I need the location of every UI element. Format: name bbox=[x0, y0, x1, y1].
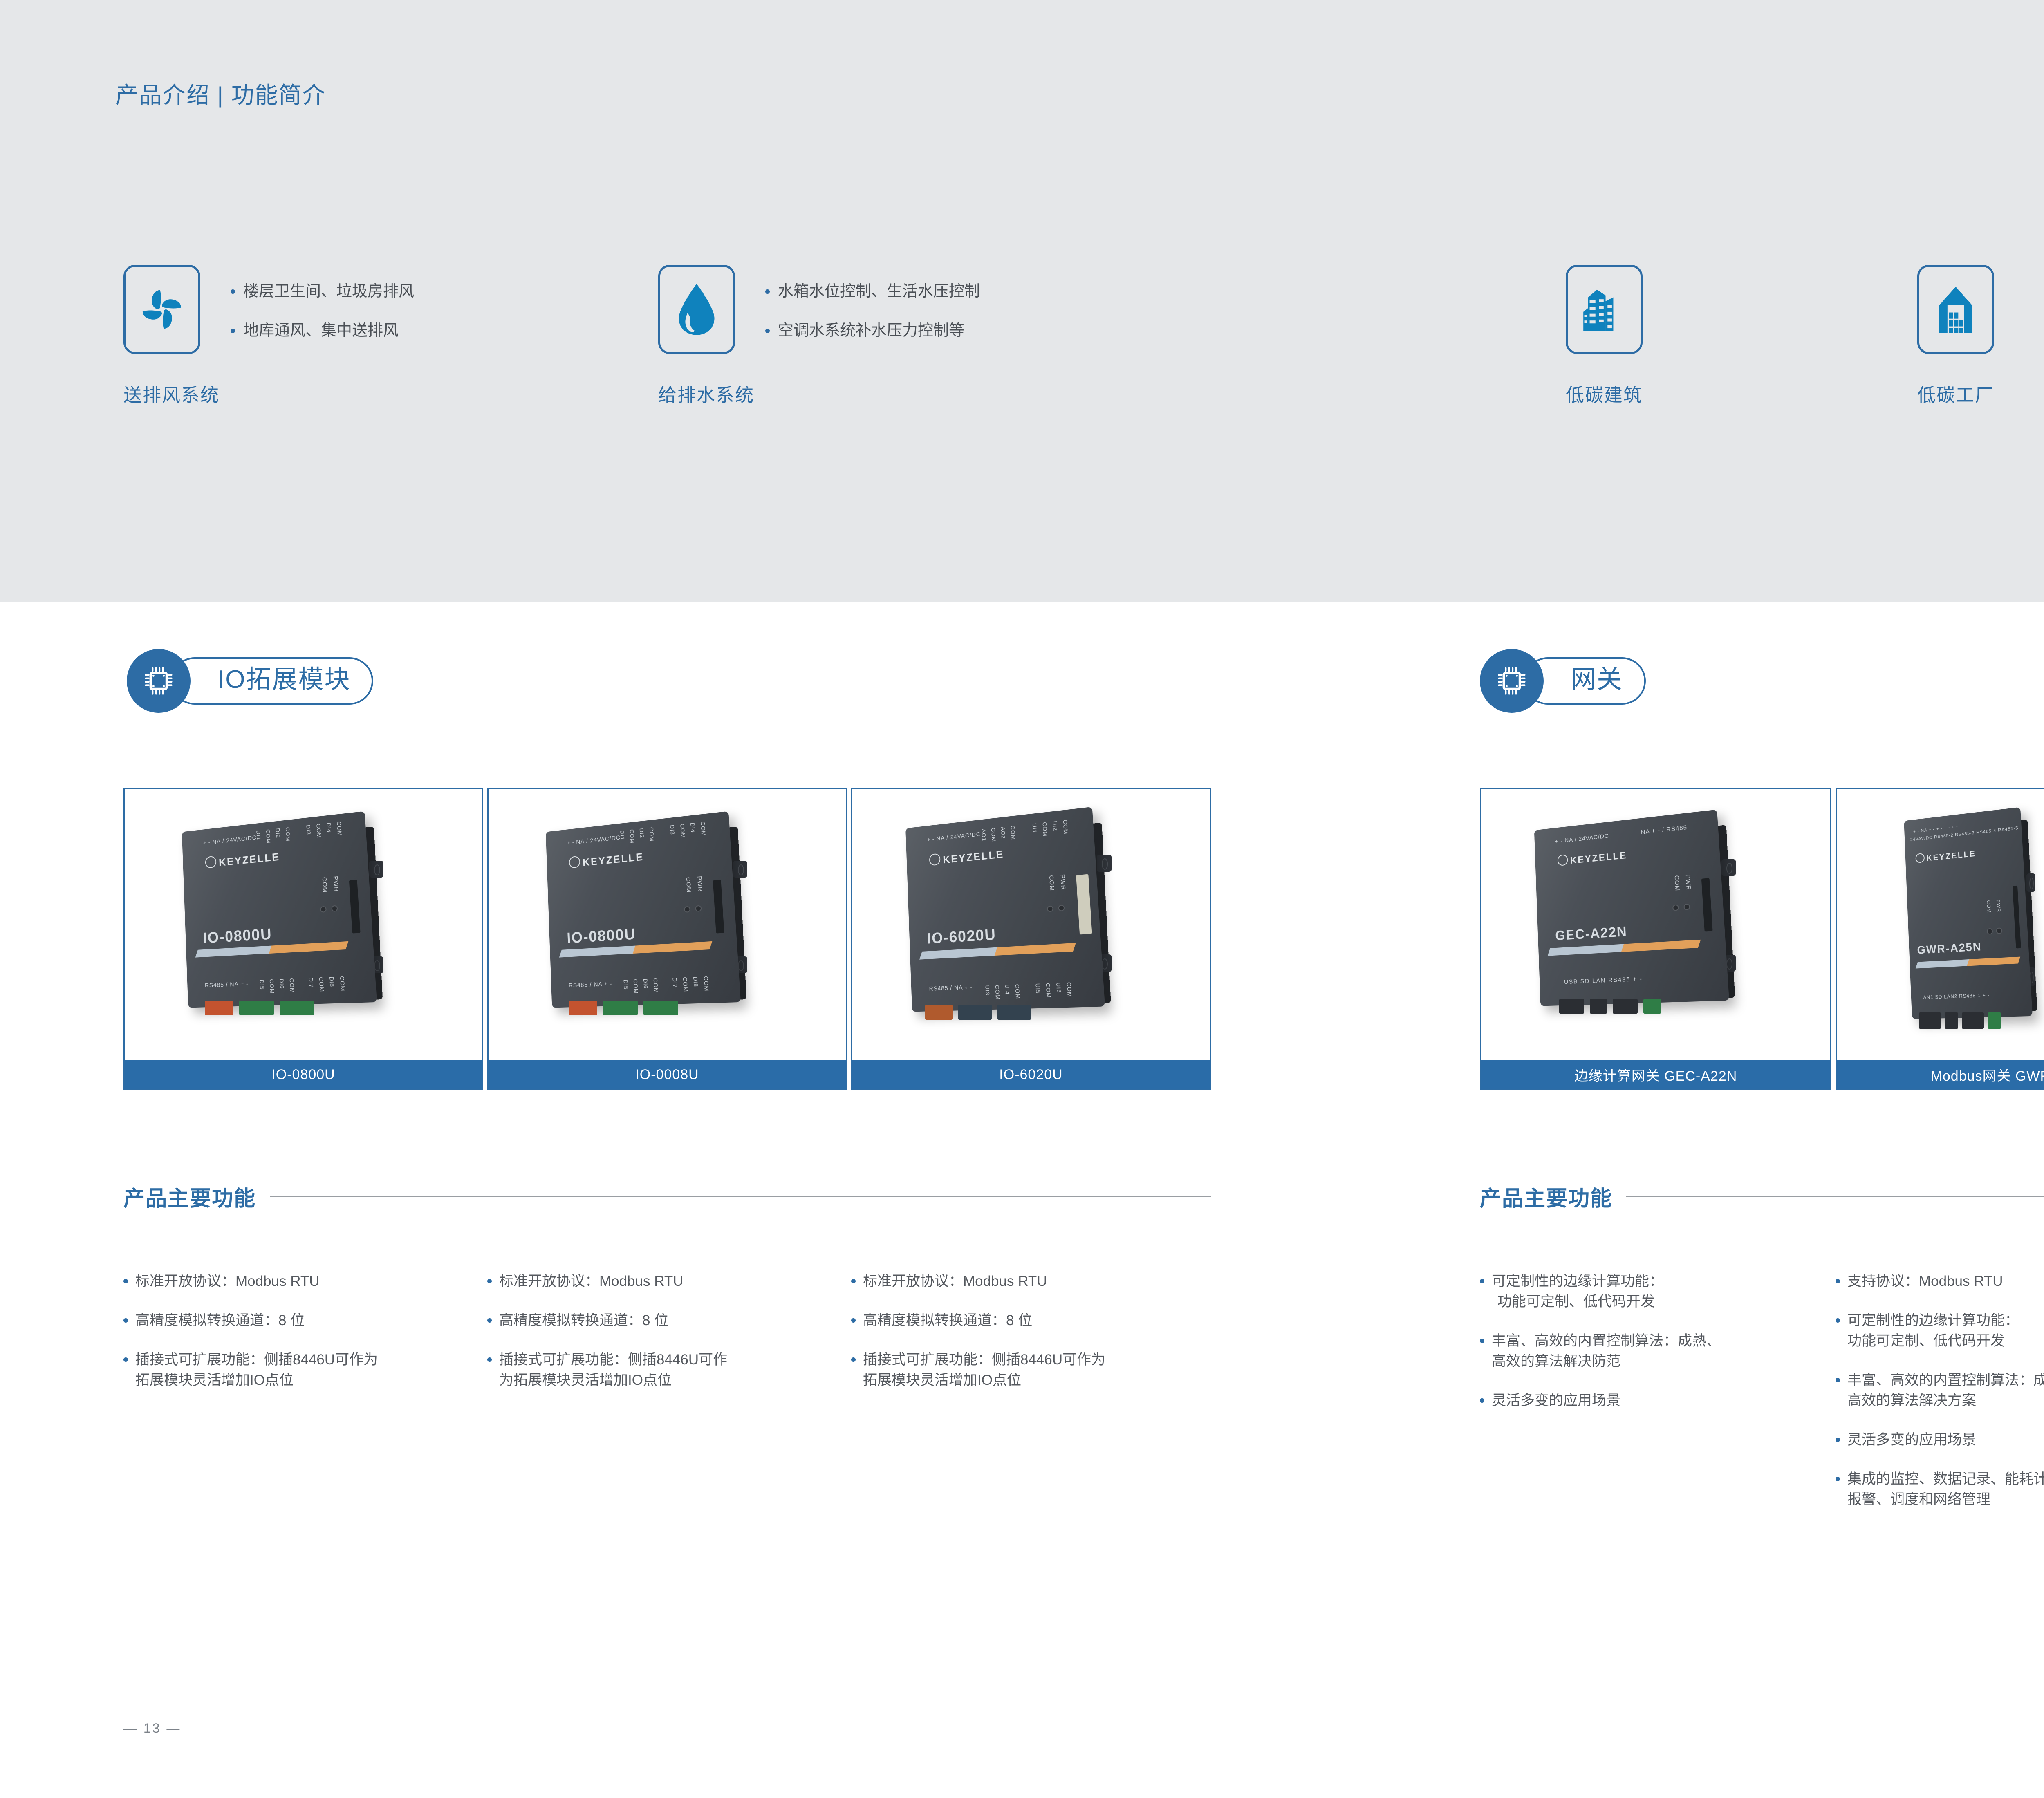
list-item: 楼层卫生间、垃圾房排风 bbox=[231, 282, 414, 301]
lan1-port bbox=[1919, 1012, 1941, 1029]
list-item: 高精度模拟转换通道：8 位 bbox=[487, 1310, 831, 1331]
features-heading-left: 产品主要功能 bbox=[123, 1181, 1211, 1212]
application-caption: 给排水系统 bbox=[658, 380, 754, 407]
feature-text: 标准开放协议：Modbus RTU bbox=[499, 1271, 684, 1292]
bullet-dot-icon bbox=[123, 1357, 128, 1362]
device-leds bbox=[1048, 906, 1064, 911]
ventilation-bullet-list: 楼层卫生间、垃圾房排风 地库通风、集中送排风 bbox=[231, 282, 414, 360]
application-caption: 低碳工厂 bbox=[1917, 380, 1994, 407]
bullet-text: 空调水系统补水压力控制等 bbox=[778, 321, 964, 340]
feature-text: 可定制性的边缘计算功能： 功能可定制、低代码开发 bbox=[1847, 1310, 2019, 1351]
bullet-dot-icon bbox=[1836, 1279, 1840, 1283]
terminal-block-dark bbox=[997, 1005, 1031, 1020]
device-brand: KEYZELLE bbox=[1557, 847, 1627, 867]
fan-icon-frame bbox=[123, 265, 200, 354]
chip-icon bbox=[141, 664, 176, 698]
section-badge-label: IO拓展模块 bbox=[217, 667, 350, 692]
mounting-tab bbox=[369, 861, 383, 878]
feature-text: 支持协议：Modbus RTU bbox=[1847, 1271, 2003, 1292]
product-card[interactable]: + - NA / 24VAC/DC DI1COMDI2COM DI3COMDI4… bbox=[487, 788, 847, 1090]
device-bottom-ports: UI3COMUI4COM bbox=[984, 984, 1021, 1000]
product-image: + - NA / 24VAC/DC DI1COMDI2COM DI3COMDI4… bbox=[489, 789, 846, 1060]
product-card[interactable]: + - NA / 24VAC/DC AO1COMAO2COM UI1COMUI2… bbox=[851, 788, 1211, 1090]
bullet-dot-icon bbox=[851, 1318, 856, 1323]
bullet-dot-icon bbox=[1836, 1477, 1840, 1481]
product-image: + - NA / 24VAC/DC DI1COMDI2COM DI3COMDI4… bbox=[125, 789, 482, 1060]
section-badge-label: 网关 bbox=[1571, 667, 1623, 692]
device-body: + - NA / 24VAC/DC DI1COMDI2COM DI3COMDI4… bbox=[546, 811, 741, 1008]
application-block-low-carbon-factory: 低碳工厂 bbox=[1917, 265, 1994, 412]
feature-text: 插接式可扩展功能：侧插8446U可作为 拓展模块灵活增加IO点位 bbox=[863, 1350, 1105, 1390]
terminal-block-green bbox=[643, 1001, 678, 1015]
device-orange-stripe bbox=[633, 941, 713, 954]
list-item: 高精度模拟转换通道：8 位 bbox=[123, 1310, 467, 1331]
device-orange-stripe bbox=[269, 941, 349, 954]
device-rs485-label: RS485 / NA + - bbox=[205, 981, 249, 989]
feature-text: 插接式可扩展功能：侧插8446U可作 为拓展模块灵活增加IO点位 bbox=[499, 1350, 727, 1390]
device-illustration: + - NA / 24VAC/DC NA + - / RS485 KEYZELL… bbox=[1530, 819, 1722, 1003]
mounting-tab bbox=[733, 861, 747, 878]
fan-icon bbox=[137, 284, 187, 335]
feature-column: 标准开放协议：Modbus RTU 高精度模拟转换通道：8 位 插接式可扩展功能… bbox=[123, 1271, 467, 1409]
application-block-low-carbon-building: 低碳建筑 bbox=[1566, 265, 1643, 412]
lan2-port bbox=[1962, 1012, 1984, 1029]
terminal-block-green bbox=[603, 1001, 638, 1015]
bullet-dot-icon bbox=[765, 289, 770, 294]
bullet-dot-icon bbox=[1480, 1339, 1484, 1343]
features-title: 产品主要功能 bbox=[123, 1181, 256, 1212]
feature-text: 插接式可扩展功能：侧插8446U可作为 拓展模块灵活增加IO点位 bbox=[135, 1350, 378, 1390]
device-bottom-ports-2: UI5COMUI6COM bbox=[1034, 982, 1073, 998]
chip-icon-circle bbox=[127, 649, 191, 713]
mounting-tab bbox=[1721, 859, 1736, 876]
device-brand: KEYZELLE bbox=[1915, 846, 1976, 864]
device-port-labels: LAN1 SD LAN2 RS485-1 + - bbox=[1920, 992, 1990, 1001]
bullet-dot-icon bbox=[231, 289, 235, 294]
device-body: + - NA / 24VAC/DC DI1COMDI2COM DI3COMDI4… bbox=[182, 811, 377, 1008]
device-leds bbox=[321, 906, 337, 911]
product-card[interactable]: + - NA + - + - + - + - 24VAV/DC RS485-2 … bbox=[1836, 788, 2044, 1090]
device-rs485-top-label: NA + - / RS485 bbox=[1641, 824, 1687, 836]
device-orange-stripe bbox=[1621, 940, 1701, 952]
terminal-block-green bbox=[1988, 1012, 2001, 1029]
device-silver-stripe bbox=[919, 947, 1006, 959]
device-illustration: + - NA / 24VAC/DC DI1COMDI2COM DI3COMDI4… bbox=[542, 820, 734, 1004]
mounting-tab bbox=[1097, 855, 1112, 872]
list-item: 标准开放协议：Modbus RTU bbox=[851, 1271, 1195, 1292]
application-caption: 送排风系统 bbox=[123, 380, 220, 407]
device-model-text: IO-6020U bbox=[927, 926, 997, 948]
device-top-ports-2: UI1COMUI2COM bbox=[1031, 819, 1069, 837]
page-number-left: — 13 — bbox=[123, 1721, 181, 1736]
device-leds bbox=[685, 906, 701, 911]
product-label: Modbus网关 GWR-A25N bbox=[1837, 1060, 2044, 1089]
device-brand: KEYZELLE bbox=[569, 848, 644, 870]
feature-text: 集成的监控、数据记录、能耗计量、 报警、调度和网络管理 bbox=[1847, 1469, 2044, 1510]
bullet-dot-icon bbox=[1480, 1279, 1484, 1283]
list-item: 地库通风、集中送排风 bbox=[231, 321, 414, 340]
terminal-block-green bbox=[1643, 999, 1661, 1014]
feature-text: 丰富、高效的内置控制算法：成熟、 高效的算法解决方案 bbox=[1847, 1370, 2044, 1411]
mounting-tab bbox=[2026, 873, 2036, 892]
device-model-text: IO-0800U bbox=[203, 925, 273, 947]
device-top-ports-2: DI3COMDI4COM bbox=[669, 821, 707, 840]
device-led-labels: COMPWR bbox=[684, 875, 704, 893]
feature-text: 丰富、高效的内置控制算法：成熟、 高效的算法解决防范 bbox=[1492, 1331, 1721, 1372]
device-orange-stripe bbox=[1967, 957, 2020, 966]
device-top-ports: DI1COMDI2COM bbox=[619, 827, 655, 845]
feature-column: 标准开放协议：Modbus RTU 高精度模拟转换通道：8 位 插接式可扩展功能… bbox=[851, 1271, 1195, 1409]
features-title: 产品主要功能 bbox=[1480, 1181, 1612, 1212]
list-item: 灵活多变的应用场景 bbox=[1836, 1430, 2044, 1450]
device-expansion-connector bbox=[1076, 874, 1092, 934]
device-power-label: + - NA / 24VAC/DC bbox=[1555, 833, 1609, 845]
bullet-dot-icon bbox=[1836, 1318, 1840, 1323]
device-orange-stripe bbox=[994, 943, 1076, 955]
device-power-label: + - NA / 24VAC/DC bbox=[203, 834, 257, 846]
device-body: + - NA / 24VAC/DC AO1COMAO2COM UI1COMUI2… bbox=[905, 807, 1105, 1012]
bullet-dot-icon bbox=[487, 1318, 492, 1323]
device-top-ports: AO1COMAO2COM bbox=[980, 825, 1017, 843]
product-label: 边缘计算网关 GEC-A22N bbox=[1481, 1060, 1830, 1089]
device-bottom-ports: DI5COMDI6COM bbox=[259, 978, 296, 994]
feature-column: 可定制性的边缘计算功能： 功能可定制、低代码开发 丰富、高效的内置控制算法：成熟… bbox=[1480, 1271, 1815, 1430]
water-bullet-list: 水箱水位控制、生活水压控制 空调水系统补水压力控制等 bbox=[765, 282, 980, 360]
water-drop-icon bbox=[674, 282, 719, 337]
office-building-icon-frame bbox=[1566, 265, 1643, 354]
spread-page: 产品介绍 | 功能简介 产品介绍 | 功能简介 楼层卫生间、垃圾房排风 bbox=[0, 0, 2044, 1798]
list-item: 插接式可扩展功能：侧插8446U可作为 拓展模块灵活增加IO点位 bbox=[123, 1350, 467, 1390]
device-body: + - NA / 24VAC/DC NA + - / RS485 KEYZELL… bbox=[1534, 810, 1729, 1006]
bullet-dot-icon bbox=[487, 1357, 492, 1362]
list-item: 水箱水位控制、生活水压控制 bbox=[765, 282, 980, 301]
device-led-labels: COMPWR bbox=[320, 875, 340, 893]
list-item: 可定制性的边缘计算功能： 功能可定制、低代码开发 bbox=[1836, 1310, 2044, 1351]
bullet-dot-icon bbox=[851, 1357, 856, 1362]
feature-text: 灵活多变的应用场景 bbox=[1492, 1390, 1620, 1411]
bullet-dot-icon bbox=[123, 1279, 128, 1283]
device-rs485-label: RS485 / NA + - bbox=[569, 981, 612, 989]
feature-text: 高精度模拟转换通道：8 位 bbox=[499, 1310, 668, 1331]
feature-column: 支持协议：Modbus RTU 可定制性的边缘计算功能： 功能可定制、低代码开发… bbox=[1836, 1271, 2044, 1529]
product-card[interactable]: + - NA / 24VAC/DC NA + - / RS485 KEYZELL… bbox=[1480, 788, 1831, 1090]
list-item: 可定制性的边缘计算功能： 功能可定制、低代码开发 bbox=[1480, 1271, 1815, 1312]
terminal-block-orange bbox=[925, 1005, 953, 1020]
device-model-text: GWR-A25N bbox=[1917, 940, 1982, 957]
device-top-ports: DI1COMDI2COM bbox=[255, 827, 291, 845]
device-silver-stripe bbox=[1548, 943, 1633, 956]
sd-slot bbox=[1590, 999, 1607, 1014]
bullet-dot-icon bbox=[1836, 1378, 1840, 1382]
product-card[interactable]: + - NA / 24VAC/DC DI1COMDI2COM DI3COMDI4… bbox=[123, 788, 483, 1090]
factory-icon bbox=[1934, 284, 1978, 335]
device-model-text: IO-0800U bbox=[567, 925, 637, 947]
device-rs485-label: RS485 / NA + - bbox=[929, 984, 973, 992]
product-label: IO-0800U bbox=[125, 1060, 482, 1089]
header-title-left: 产品介绍 | 功能简介 bbox=[115, 81, 326, 110]
terminal-block-green bbox=[239, 1001, 274, 1015]
device-bottom-ports-2: DI7COMDI8COM bbox=[307, 976, 346, 993]
heading-rule bbox=[1626, 1196, 2044, 1197]
device-led-labels: COMPWR bbox=[1048, 874, 1067, 891]
bullet-text: 楼层卫生间、垃圾房排风 bbox=[243, 282, 414, 301]
device-silver-stripe bbox=[559, 945, 645, 957]
list-item: 集成的监控、数据记录、能耗计量、 报警、调度和网络管理 bbox=[1836, 1469, 2044, 1510]
device-silver-stripe bbox=[195, 945, 281, 957]
list-item: 灵活多变的应用场景 bbox=[1480, 1390, 1815, 1411]
list-item: 标准开放协议：Modbus RTU bbox=[123, 1271, 467, 1292]
chip-icon bbox=[1495, 664, 1529, 698]
bullet-dot-icon bbox=[487, 1279, 492, 1283]
feature-text: 灵活多变的应用场景 bbox=[1847, 1430, 1976, 1450]
feature-column: 标准开放协议：Modbus RTU 高精度模拟转换通道：8 位 插接式可扩展功能… bbox=[487, 1271, 831, 1409]
device-power-label: + - NA / 24VAC/DC bbox=[567, 834, 621, 846]
list-item: 支持协议：Modbus RTU bbox=[1836, 1271, 2044, 1292]
device-expansion-slot bbox=[2013, 886, 2021, 949]
factory-icon-frame bbox=[1917, 265, 1994, 354]
sd-slot bbox=[1945, 1012, 1958, 1029]
usb-port bbox=[1559, 999, 1584, 1014]
bullet-dot-icon bbox=[123, 1318, 128, 1323]
heading-rule bbox=[270, 1196, 1211, 1197]
lan-port bbox=[1613, 999, 1638, 1014]
device-illustration: + - NA + - + - + - + - 24VAV/DC RS485-2 … bbox=[1904, 812, 2027, 1017]
device-top-ports-2: DI3COMDI4COM bbox=[305, 821, 343, 840]
water-drop-icon-frame bbox=[658, 265, 735, 354]
section-badge-pill: IO拓展模块 bbox=[171, 657, 373, 705]
device-led-labels: COMPWR bbox=[1986, 899, 2001, 913]
chip-icon-circle bbox=[1480, 649, 1544, 713]
bullet-text: 地库通风、集中送排风 bbox=[243, 321, 399, 340]
product-image: + - NA + - + - + - + - 24VAV/DC RS485-2 … bbox=[1837, 789, 2044, 1060]
list-item: 丰富、高效的内置控制算法：成熟、 高效的算法解决防范 bbox=[1480, 1331, 1815, 1372]
product-image: + - NA / 24VAC/DC AO1COMAO2COM UI1COMUI2… bbox=[852, 789, 1210, 1060]
device-expansion-slot bbox=[1701, 878, 1713, 931]
application-caption: 低碳建筑 bbox=[1566, 380, 1643, 407]
header-row: 产品介绍 | 功能简介 产品介绍 | 功能简介 bbox=[0, 81, 2044, 110]
bullet-dot-icon bbox=[1836, 1438, 1840, 1442]
device-port-labels: USB SD LAN RS485 + - bbox=[1564, 975, 1643, 985]
device-body: + - NA + - + - + - + - 24VAV/DC RS485-2 … bbox=[1904, 807, 2033, 1019]
device-brand: KEYZELLE bbox=[929, 845, 1004, 867]
bullet-dot-icon bbox=[231, 329, 235, 333]
bullet-dot-icon bbox=[765, 329, 770, 333]
bullet-dot-icon bbox=[851, 1279, 856, 1283]
list-item: 丰富、高效的内置控制算法：成熟、 高效的算法解决方案 bbox=[1836, 1370, 2044, 1411]
list-item: 标准开放协议：Modbus RTU bbox=[487, 1271, 831, 1292]
feature-text: 高精度模拟转换通道：8 位 bbox=[863, 1310, 1032, 1331]
feature-text: 高精度模拟转换通道：8 位 bbox=[135, 1310, 305, 1331]
terminal-block-green bbox=[280, 1001, 314, 1015]
device-bottom-ports: DI5COMDI6COM bbox=[623, 978, 660, 994]
device-leds bbox=[1673, 904, 1689, 910]
office-building-icon bbox=[1582, 283, 1627, 336]
list-item: 高精度模拟转换通道：8 位 bbox=[851, 1310, 1195, 1331]
terminal-block-dark bbox=[958, 1005, 992, 1020]
device-expansion-slot bbox=[713, 880, 724, 933]
bullet-text: 水箱水位控制、生活水压控制 bbox=[778, 282, 980, 301]
device-expansion-slot bbox=[349, 880, 361, 933]
terminal-block-orange bbox=[569, 1001, 598, 1015]
device-illustration: + - NA / 24VAC/DC DI1COMDI2COM DI3COMDI4… bbox=[178, 820, 370, 1004]
features-heading-right: 产品主要功能 bbox=[1480, 1181, 2044, 1212]
feature-text: 可定制性的边缘计算功能： 功能可定制、低代码开发 bbox=[1492, 1271, 1663, 1312]
feature-text: 标准开放协议：Modbus RTU bbox=[135, 1271, 320, 1292]
device-model-text: GEC-A22N bbox=[1555, 923, 1628, 943]
device-brand: KEYZELLE bbox=[205, 848, 280, 870]
list-item: 空调水系统补水压力控制等 bbox=[765, 321, 980, 340]
list-item: 插接式可扩展功能：侧插8446U可作为 拓展模块灵活增加IO点位 bbox=[851, 1350, 1195, 1390]
application-block-ventilation: 楼层卫生间、垃圾房排风 地库通风、集中送排风 送排风系统 bbox=[123, 265, 532, 412]
device-leds bbox=[1988, 928, 2001, 934]
terminal-block-orange bbox=[205, 1001, 234, 1015]
device-led-labels: COMPWR bbox=[1673, 874, 1692, 891]
device-power-label: + - NA / 24VAC/DC bbox=[927, 831, 981, 844]
product-label: IO-6020U bbox=[852, 1060, 1210, 1089]
list-item: 插接式可扩展功能：侧插8446U可作 为拓展模块灵活增加IO点位 bbox=[487, 1350, 831, 1390]
feature-text: 标准开放协议：Modbus RTU bbox=[863, 1271, 1047, 1292]
product-image: + - NA / 24VAC/DC NA + - / RS485 KEYZELL… bbox=[1481, 789, 1830, 1060]
product-label: IO-0008U bbox=[489, 1060, 846, 1089]
device-illustration: + - NA / 24VAC/DC AO1COMAO2COM UI1COMUI2… bbox=[901, 816, 1098, 1008]
bullet-dot-icon bbox=[1480, 1398, 1484, 1403]
device-bottom-ports-2: DI7COMDI8COM bbox=[671, 976, 710, 993]
application-block-water: 水箱水位控制、生活水压控制 空调水系统补水压力控制等 给排水系统 bbox=[658, 265, 1108, 412]
